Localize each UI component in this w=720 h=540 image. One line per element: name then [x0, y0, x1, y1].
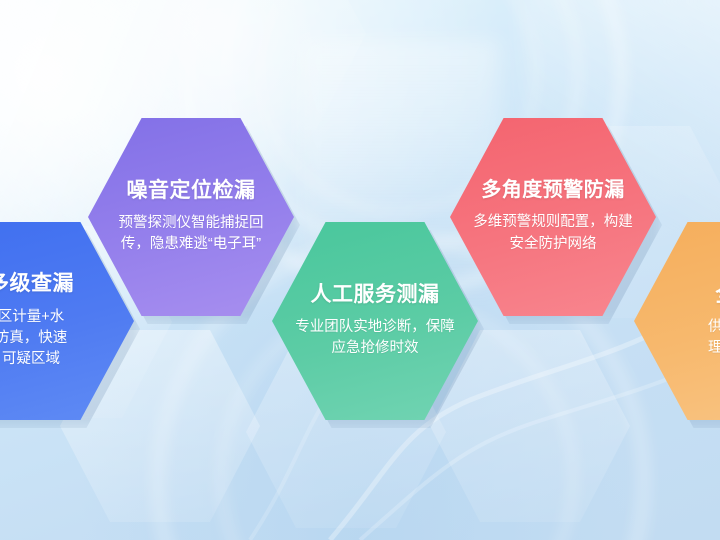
hexagon-title: 多角度预警防漏: [481, 179, 625, 202]
hexagon-node-purple[interactable]: 噪音定位检漏 预警探测仪智能捕捉回传，隐患难逃“电子耳”: [88, 118, 294, 316]
hexagon-node-green[interactable]: 人工服务测漏 专业团队实地诊断，保障应急抢修时效: [272, 222, 478, 420]
hexagon-title: 噪音定位检漏: [127, 179, 256, 203]
hexagon-description: 区计量+水 仿真，快速 可疑区域: [0, 307, 67, 370]
hexagon-description: 多维预警规则配置，构建安全防护网络: [472, 212, 634, 254]
hexagon-node-orange[interactable]: 全流 供水管网 理，漏损: [634, 222, 720, 420]
hexagon-description: 供水管网 理，漏损: [708, 317, 720, 359]
hexagon-node-red[interactable]: 多角度预警防漏 多维预警规则配置，构建安全防护网络: [450, 118, 656, 316]
infographic-canvas: 多级查漏 区计量+水 仿真，快速 可疑区域 噪音定位检漏 预警探测仪智能捕捉回传…: [0, 0, 720, 540]
ghost-hexagon: [166, 0, 366, 130]
hexagon-description: 专业团队实地诊断，保障应急抢修时效: [294, 317, 456, 359]
hexagon-description: 预警探测仪智能捕捉回传，隐患难逃“电子耳”: [110, 213, 272, 255]
hexagon-title: 人工服务测漏: [311, 283, 440, 307]
hexagon-title: 多级查漏: [0, 272, 74, 296]
ghost-hexagon: [430, 330, 630, 522]
hexagon-title: 全流: [716, 283, 720, 307]
